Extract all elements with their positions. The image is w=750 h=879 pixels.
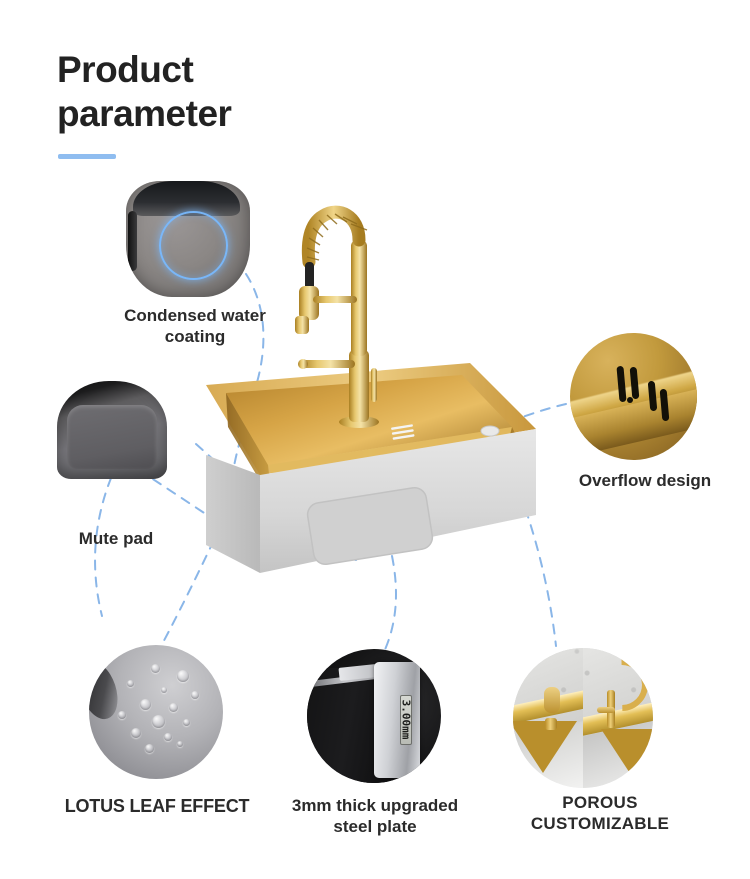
porous-gold-corner-right <box>601 729 653 781</box>
overflow-slot-icon <box>617 366 627 402</box>
coating-highlight-ring-icon <box>159 211 227 280</box>
porous-left-half <box>513 648 583 788</box>
callout-label-line-1: LOTUS LEAF EFFECT <box>57 795 257 818</box>
caliper-reading: 3.00mm <box>400 700 412 740</box>
porous-faucet-handle-icon <box>597 707 615 713</box>
callout-label-line-2: CUSTOMIZABLE <box>500 813 700 834</box>
callout-label-overflow-design: Overflow design <box>555 470 735 491</box>
lotus-photo <box>89 645 223 779</box>
callout-label-line-2: coating <box>95 326 295 347</box>
infographic-canvas: Product parameter <box>0 0 750 879</box>
coating-photo <box>126 181 250 297</box>
callout-label-steel-plate: 3mm thick upgraded steel plate <box>275 795 475 838</box>
callout-label-line-1: Overflow design <box>555 470 735 491</box>
overflow-hole-icon <box>627 397 633 403</box>
faucet-illustration <box>283 200 403 430</box>
callout-label-line-1: POROUS <box>500 792 700 813</box>
porous-right-half <box>583 648 653 788</box>
callout-label-line-1: 3mm thick upgraded <box>275 795 475 816</box>
product-faucet <box>283 200 403 425</box>
porous-photo <box>513 648 653 788</box>
callout-label-line-2: steel plate <box>275 816 475 837</box>
porous-dispenser-base <box>545 718 557 730</box>
coating-edge <box>128 211 137 271</box>
overflow-slot-icon <box>630 367 640 399</box>
callout-label-lotus-leaf-effect: LOTUS LEAF EFFECT <box>57 795 257 818</box>
caliper-body: 3.00mm <box>374 662 420 777</box>
callout-label-condensed-water-coating: Condensed water coating <box>95 305 295 348</box>
caliper-display: 3.00mm <box>400 695 412 745</box>
porous-soap-dispenser-icon <box>544 687 560 713</box>
callout-label-line-1: Condensed water <box>95 305 295 326</box>
overflow-photo <box>570 333 697 460</box>
callout-label-porous-customizable: POROUS CUSTOMIZABLE <box>500 792 700 835</box>
steel-plate-photo: 3.00mm <box>307 649 441 783</box>
